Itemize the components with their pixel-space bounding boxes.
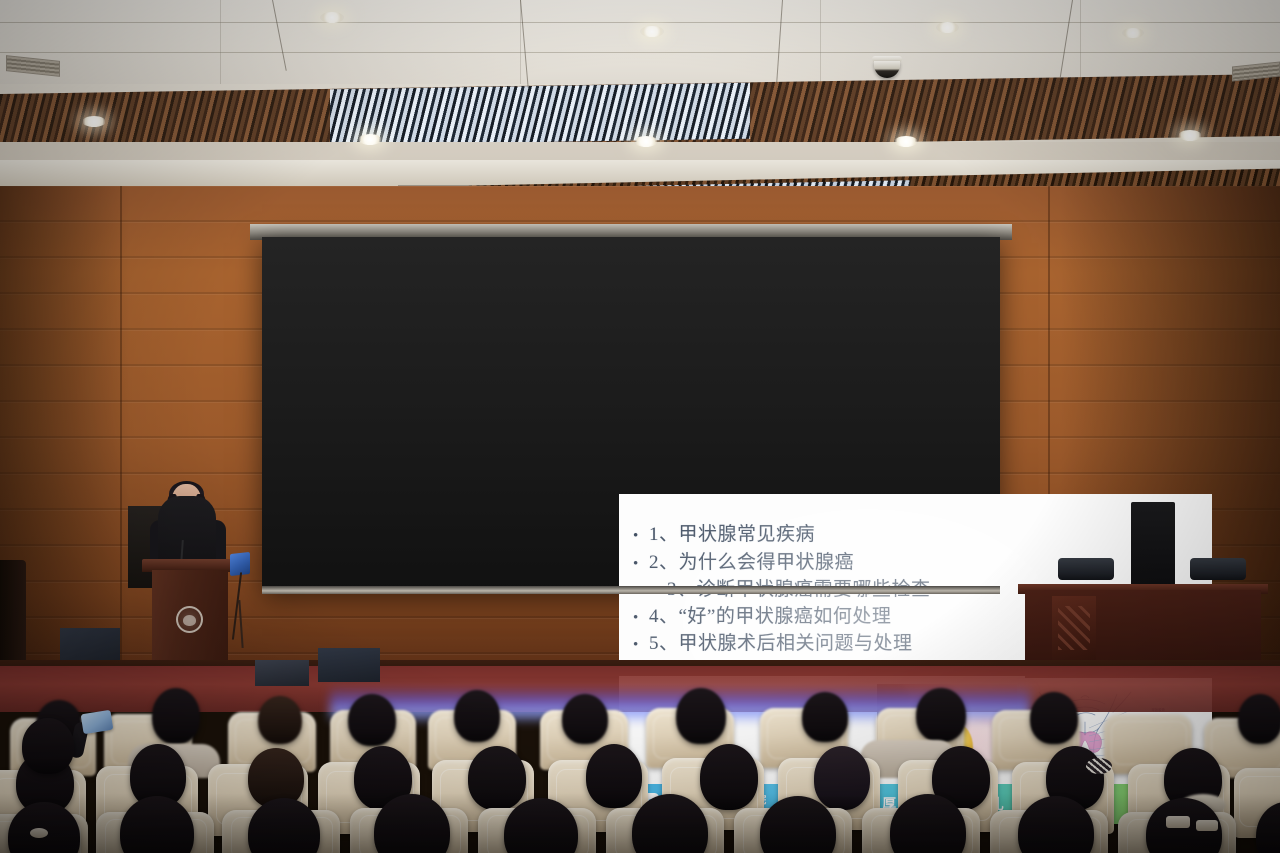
slide-line: • 5、甲状腺术后相关问题与处理 [633, 631, 1053, 659]
screen-bottom-rail [262, 586, 1000, 594]
bullet-icon: • [633, 605, 649, 632]
slide-line-text: 2、为什么会得甲状腺癌 [649, 550, 854, 577]
audience-head [1238, 694, 1280, 744]
ceiling-downlight [634, 136, 658, 147]
ceiling-downlight [320, 12, 344, 23]
ceiling-downlight [936, 22, 959, 33]
ceiling-upper-panel [0, 0, 1280, 88]
slide-line-text: 1、甲状腺常见疾病 [649, 522, 815, 549]
side-chair-slats [1058, 606, 1090, 650]
audience-head [916, 688, 966, 742]
slide-line-text: 5、甲状腺术后相关问题与处理 [649, 631, 913, 658]
ceiling-downlight [894, 136, 918, 147]
hair-clip [1166, 816, 1190, 828]
presenter-body [158, 496, 216, 566]
audience-head [562, 694, 608, 744]
lecture-hall-photo: • 1、甲状腺常见疾病 • 2、为什么会得甲状腺癌 3、诊断甲状腺癌需要哪些检查… [0, 0, 1280, 853]
audience-head [258, 696, 302, 744]
side-loudspeaker [1058, 558, 1114, 580]
audience-head [586, 744, 642, 808]
hair-clip [1196, 820, 1218, 831]
slide-line: • 4、“好”的甲状腺癌如何处理 [633, 604, 1053, 632]
audience-head [348, 694, 396, 746]
hospital-emblem-icon [176, 606, 203, 633]
audience-head [1030, 692, 1078, 744]
audience-head [814, 746, 870, 810]
ceiling-downlight [640, 26, 664, 37]
bullet-icon: • [633, 551, 649, 578]
ceiling-downlight [1178, 130, 1202, 141]
slide-line: • 1、甲状腺常见疾病 [633, 522, 1053, 550]
slide-line-text: 4、“好”的甲状腺癌如何处理 [649, 604, 891, 631]
audience-head [676, 688, 726, 744]
bullet-icon: • [633, 523, 649, 550]
ceiling-wood-slats-lit [330, 83, 750, 146]
ceiling-downlight [358, 134, 382, 145]
audience-head [22, 718, 74, 774]
wall-pillar-left [0, 560, 26, 670]
audience-head [802, 692, 848, 742]
projection-screen-frame: • 1、甲状腺常见疾病 • 2、为什么会得甲状腺癌 3、诊断甲状腺癌需要哪些检查… [262, 237, 1000, 592]
ceiling-downlight [82, 116, 106, 127]
side-loudspeaker [1190, 558, 1246, 580]
audience-head [152, 688, 200, 744]
audience-head [454, 690, 500, 742]
ceiling-downlight [1122, 28, 1144, 38]
audience-head [468, 746, 526, 810]
slide-line: • 2、为什么会得甲状腺癌 [633, 550, 1053, 578]
wall-loudspeaker [1131, 502, 1175, 588]
hair-scrunchie [1086, 758, 1112, 774]
audience-head [700, 744, 758, 810]
audience-area [0, 666, 1280, 853]
hair-clip [30, 828, 48, 838]
bullet-icon: • [633, 632, 649, 659]
